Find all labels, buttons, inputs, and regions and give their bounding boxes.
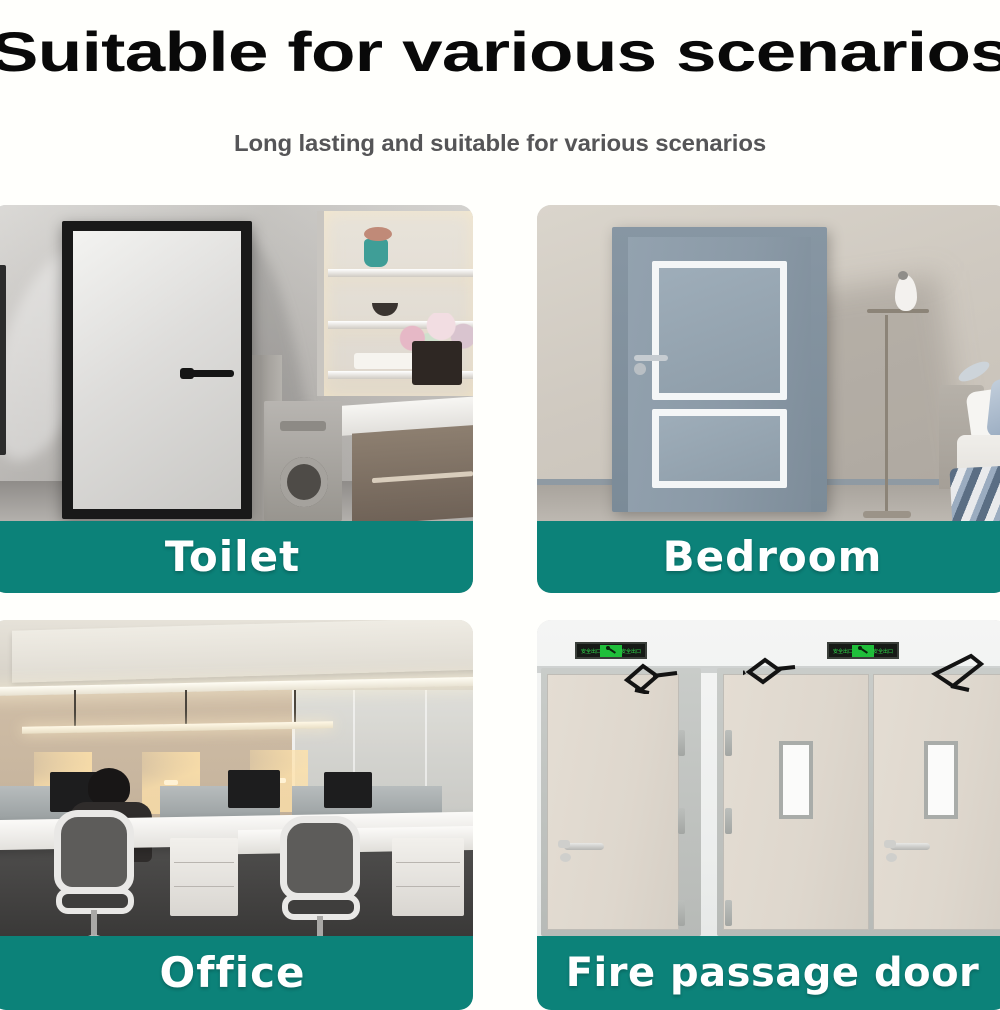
scenario-card-fire-passage-door[interactable]: 安全出口 安全出口 安全出口 安全出口 [537, 620, 1000, 1010]
washer-door [280, 457, 328, 507]
plant-pot [412, 341, 462, 385]
scenario-grid: Toilet [0, 205, 1000, 1000]
monitor [324, 772, 372, 808]
emergency-exit-sign: 安全出口 安全出口 [575, 642, 647, 659]
bedroom-door [628, 237, 811, 512]
bedroom-label: Bedroom [663, 536, 883, 578]
fire-passage-door-label: Fire passage door [566, 953, 980, 993]
striped-throw-blanket [949, 465, 1000, 528]
emergency-exit-sign: 安全出口 安全出口 [827, 642, 899, 659]
wall-trim [0, 265, 6, 455]
vision-panel [779, 741, 813, 819]
pendant-rod [74, 690, 76, 726]
folded-towel [354, 353, 420, 369]
door-hinge [725, 808, 732, 834]
page-subtitle: Long lasting and suitable for various sc… [234, 126, 766, 160]
cabinet-handle [372, 471, 473, 483]
fire-door-frame-double [717, 668, 1000, 936]
running-man-icon [600, 645, 622, 657]
door-handle [188, 370, 234, 377]
exit-sign-text-right: 安全出口 [621, 648, 641, 655]
office-label-bar: Office [0, 936, 473, 1010]
bedroom-door-frame [612, 227, 827, 512]
decor-bowl [372, 303, 398, 316]
desk-pedestal [170, 838, 238, 916]
fire-door-leaf [723, 674, 869, 930]
scenario-card-office[interactable]: Office [0, 620, 473, 1010]
page-header: Suitable for various scenarios Long last… [0, 0, 1000, 205]
running-man-icon [852, 645, 874, 657]
toilet-label: Toilet [165, 536, 300, 578]
door-hinge [678, 730, 685, 756]
door-closer-arm [623, 660, 677, 694]
floor-lamp-arm [867, 309, 929, 313]
bedroom-label-bar: Bedroom [537, 521, 1000, 593]
niche-shelf [328, 269, 473, 277]
scenario-card-toilet[interactable]: Toilet [0, 205, 473, 593]
floor-lamp-base [863, 511, 911, 518]
seated-person-head [88, 768, 130, 806]
exit-sign-text-left: 安全出口 [833, 648, 853, 655]
door-hinge [725, 900, 732, 926]
decor-vase [364, 239, 388, 267]
vision-panel [924, 741, 958, 819]
washing-machine [264, 401, 342, 521]
door-hinge [678, 900, 685, 926]
door-handle [634, 355, 668, 361]
bird-lamp-shade [895, 275, 917, 311]
scenario-card-bedroom[interactable]: Bedroom [537, 205, 1000, 593]
door-hinge [678, 808, 685, 834]
fire-door-frame-single [541, 668, 701, 936]
office-label: Office [159, 952, 305, 994]
page-title: Suitable for various scenarios [0, 18, 1000, 86]
door-closer-arm [743, 656, 797, 690]
door-handle [890, 843, 930, 850]
washer-control-panel [280, 421, 326, 431]
exit-sign-text-left: 安全出口 [581, 648, 601, 655]
fire-passage-door-label-bar: Fire passage door [537, 936, 1000, 1010]
fire-door-leaf [547, 674, 679, 930]
floor-lamp-pole [885, 315, 888, 515]
toilet-label-bar: Toilet [0, 521, 473, 593]
exit-sign-text-right: 安全出口 [873, 648, 893, 655]
monitor [228, 770, 280, 808]
pendant-rod [294, 690, 296, 726]
door-handle [564, 843, 604, 850]
desk-pedestal [392, 838, 464, 916]
door-panel-upper [652, 261, 787, 400]
pendant-rod [185, 690, 187, 726]
door-panel-lower [652, 409, 787, 488]
door-closer-arm [931, 652, 985, 686]
vanity-cabinet [352, 424, 473, 525]
door-hinge [725, 730, 732, 756]
fire-door-leaf [873, 674, 1000, 930]
